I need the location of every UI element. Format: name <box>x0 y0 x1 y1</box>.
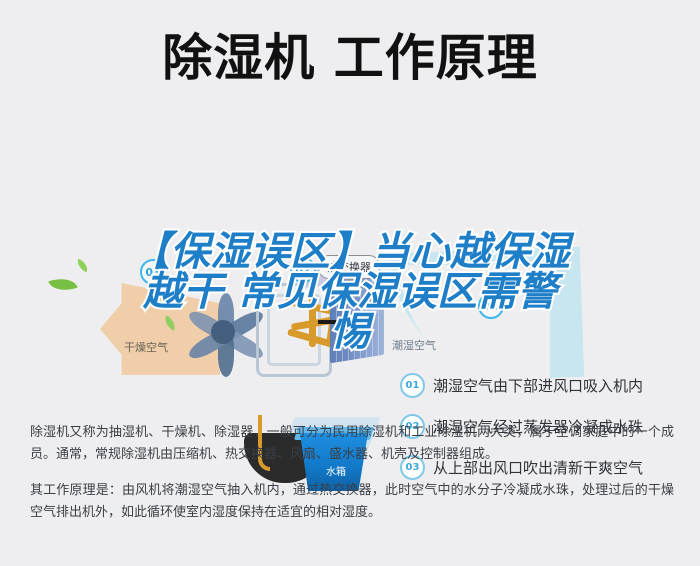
overlay-line-2: 越干 常见保湿误区需警 <box>0 272 700 312</box>
overlay-line-1: 【保湿误区】当心越保湿 <box>0 232 700 272</box>
legend-item: 01 潮湿空气由下部进风口吸入机内 <box>400 373 700 398</box>
article-body: 除湿机又称为抽湿机、干燥机、除湿器，一般可分为民用除湿机和工业除湿机两大类，属于… <box>30 422 674 538</box>
overlay-headline: 【保湿误区】当心越保湿 越干 常见保湿误区需警 惕 <box>0 232 700 352</box>
article-paragraph-1: 除湿机又称为抽湿机、干燥机、除湿器，一般可分为民用除湿机和工业除湿机两大类，属于… <box>30 422 674 466</box>
legend-number: 01 <box>400 373 425 398</box>
page-title: 除湿机 工作原理 <box>0 28 700 88</box>
page-root: 除湿机 工作原理 干燥空气 <box>0 0 700 566</box>
overlay-line-3: 惕 <box>0 312 700 352</box>
legend-text: 潮湿空气由下部进风口吸入机内 <box>433 375 643 396</box>
article-paragraph-2: 其工作原理是：由风机将潮湿空气抽入机内，通过热交换器，此时空气中的水分子冷凝成水… <box>30 480 674 524</box>
